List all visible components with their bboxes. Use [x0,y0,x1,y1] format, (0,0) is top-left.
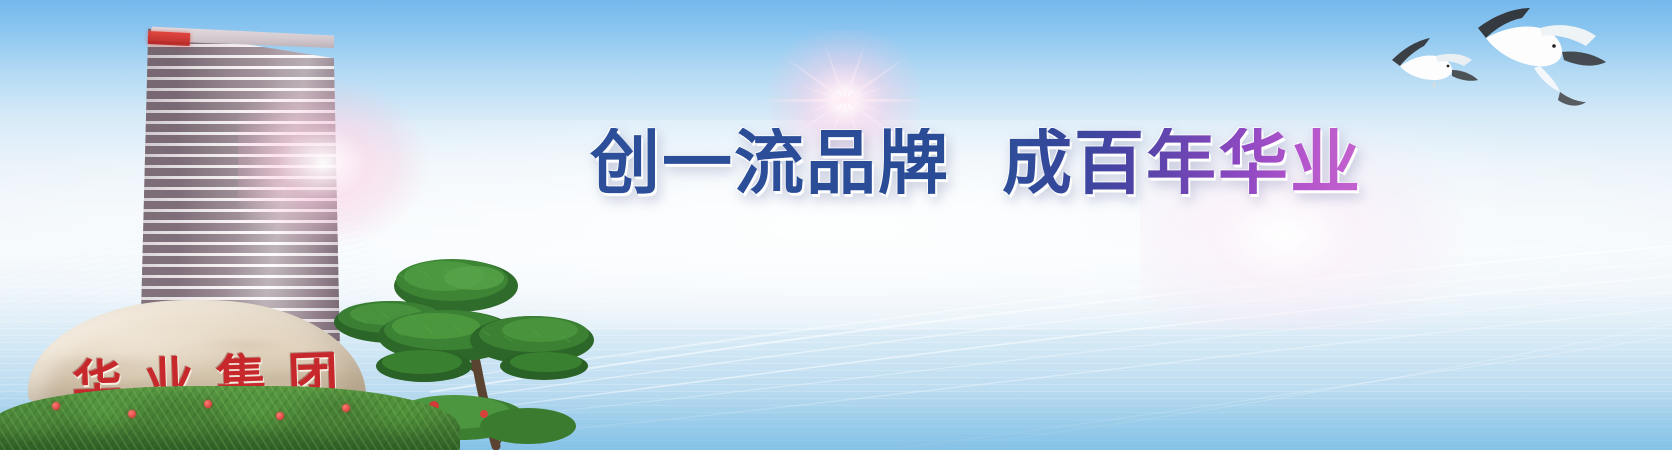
seagull-icons [1372,0,1672,140]
slogan-part-2: 成百年华业 [1002,128,1362,198]
shrub-hedge [0,386,460,450]
slogan-text: 创一流品牌 成百年华业 [590,128,1362,198]
seagull-right-icon [1478,8,1606,106]
hero-banner: 华 业 集 团 创一流品牌 成百年华业 [0,0,1672,450]
slogan-part-1: 创一流品牌 [590,128,950,198]
building-logo-sign [148,31,191,46]
seagull-left-icon [1392,38,1478,88]
